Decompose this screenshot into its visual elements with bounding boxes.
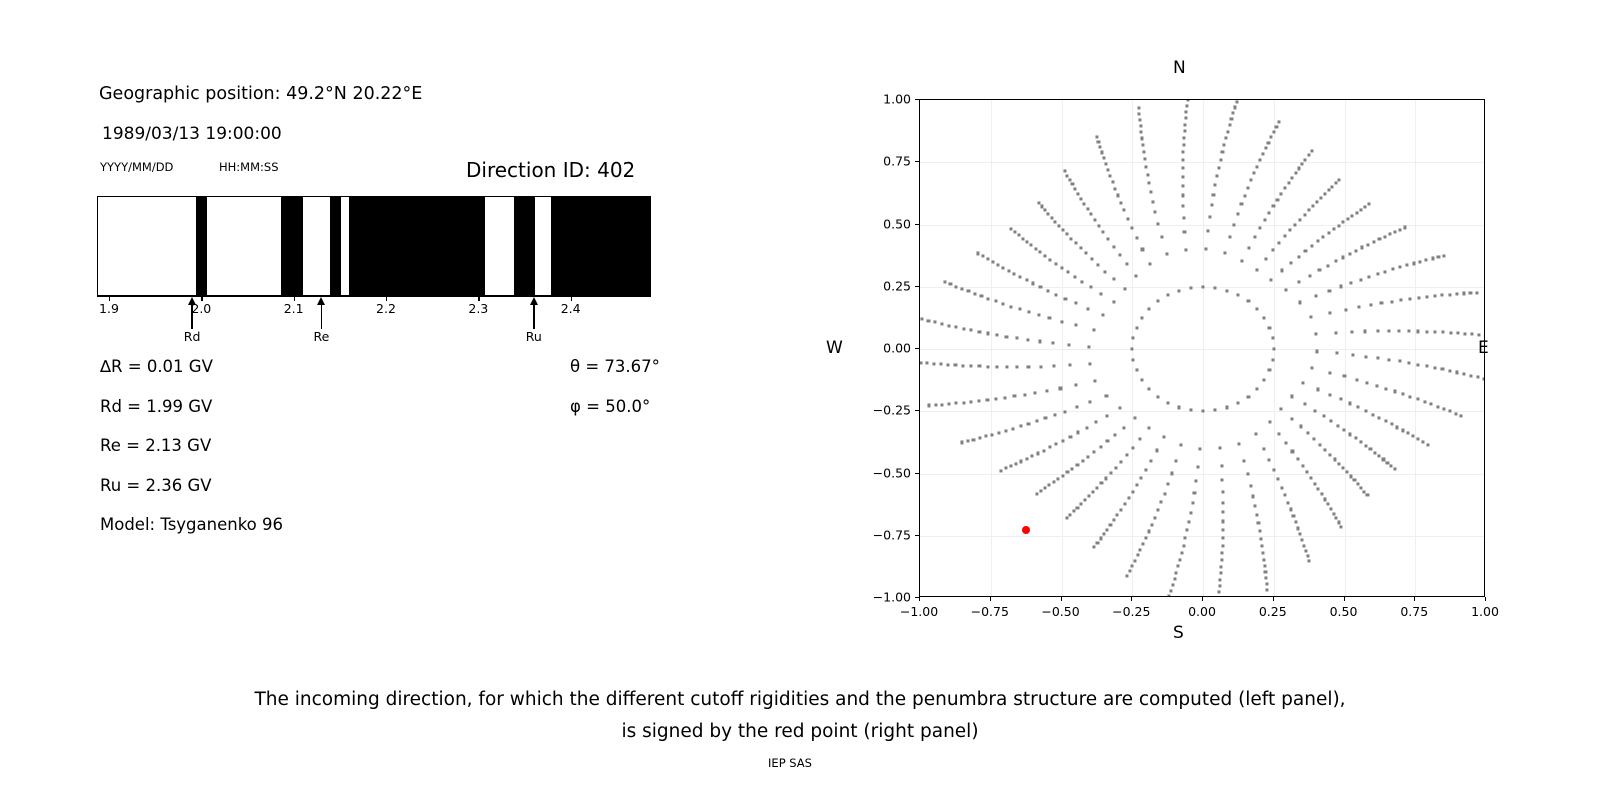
scatter-point — [1376, 330, 1379, 333]
scatter-point — [1039, 285, 1042, 288]
plot-ytick-label: −1.00 — [861, 590, 911, 605]
scatter-point — [1088, 401, 1091, 404]
left-panel: Geographic position: 49.2°N 20.22°E 1989… — [0, 0, 800, 660]
scatter-point — [1080, 503, 1083, 506]
scatter-point — [1294, 521, 1297, 524]
scatter-point — [1044, 254, 1047, 257]
scatter-point — [1291, 450, 1294, 453]
scatter-point — [970, 329, 973, 332]
scatter-point — [1476, 291, 1479, 294]
scatter-point — [932, 362, 935, 365]
scatter-point — [1356, 406, 1359, 409]
scatter-point — [1173, 577, 1176, 580]
scatter-point — [977, 252, 980, 255]
scatter-point — [1095, 135, 1098, 138]
scatter-point — [1139, 124, 1142, 127]
scatter-point — [1154, 210, 1157, 213]
scatter-point — [1329, 507, 1332, 510]
scatter-point — [1111, 180, 1114, 183]
scatter-point — [1363, 205, 1366, 208]
plot-ytick — [915, 410, 919, 411]
scatter-point — [1074, 324, 1077, 327]
scatter-point — [1065, 233, 1068, 236]
scatter-point — [1074, 384, 1077, 387]
scatter-point — [972, 438, 975, 441]
scatter-point — [1320, 493, 1323, 496]
scatter-point — [1097, 224, 1100, 227]
scatter-point — [1463, 372, 1466, 375]
scatter-point — [1237, 401, 1240, 404]
scatter-point — [1403, 226, 1406, 229]
plot-xtick-label: −0.75 — [971, 604, 1009, 619]
scatter-point — [1206, 230, 1209, 233]
plot-xtick-label: 0.75 — [1400, 604, 1428, 619]
scatter-point — [1221, 478, 1224, 481]
penumbra-axis-line — [97, 296, 651, 297]
plot-gridline-vertical — [1415, 100, 1416, 596]
scatter-point — [978, 365, 981, 368]
scatter-point — [1119, 406, 1122, 409]
scatter-point — [1018, 308, 1021, 311]
scatter-point — [1401, 393, 1404, 396]
scatter-point — [1243, 194, 1246, 197]
scatter-point — [1389, 233, 1392, 236]
scatter-point — [1255, 269, 1258, 272]
scatter-point — [1079, 247, 1082, 250]
scatter-point — [1143, 158, 1146, 161]
scatter-point — [1471, 333, 1474, 336]
scatter-point — [1254, 504, 1257, 507]
scatter-point — [1027, 422, 1030, 425]
plot-ytick-label: 1.00 — [861, 92, 911, 107]
scatter-point — [1388, 358, 1391, 361]
scatter-point — [1077, 431, 1080, 434]
scatter-point — [1217, 596, 1220, 597]
scatter-point — [1109, 523, 1112, 526]
caption-line-2: is signed by the red point (right panel) — [0, 716, 1600, 748]
scatter-point — [1360, 486, 1363, 489]
scatter-point — [1369, 303, 1372, 306]
direction-id-text: Direction ID: 402 — [466, 158, 635, 182]
scatter-point — [1386, 461, 1389, 464]
scatter-point — [1052, 481, 1055, 484]
scatter-point — [1135, 236, 1138, 239]
scatter-point — [1361, 246, 1364, 249]
scatter-point — [1089, 286, 1092, 289]
scatter-point — [1184, 537, 1187, 540]
scatter-point — [1166, 294, 1169, 297]
scatter-point — [1060, 266, 1063, 269]
scatter-point — [1326, 503, 1329, 506]
scatter-point — [1042, 449, 1045, 452]
scatter-point — [1348, 402, 1351, 405]
scatter-point — [927, 404, 930, 407]
angle-text: φ = 50.0° — [570, 397, 650, 416]
scatter-point — [1441, 294, 1444, 297]
plot-ytick-label: 0.50 — [861, 216, 911, 231]
scatter-point — [1309, 274, 1312, 277]
scatter-point — [1106, 168, 1109, 171]
scatter-point — [1081, 280, 1084, 283]
scatter-point — [1346, 217, 1349, 220]
compass-label-north: N — [1173, 58, 1186, 78]
scatter-point — [949, 283, 952, 286]
scatter-point — [1306, 432, 1309, 435]
scatter-point — [1175, 571, 1178, 574]
plot-xtick — [1273, 597, 1274, 601]
scatter-point — [1187, 520, 1190, 523]
penumbra-axis-tick-label: 2.2 — [376, 301, 396, 316]
scatter-point — [1448, 369, 1451, 372]
scatter-point — [1268, 326, 1271, 329]
scatter-point — [1099, 146, 1102, 149]
scatter-point — [1035, 492, 1038, 495]
scatter-point — [1066, 471, 1069, 474]
parameter-text: Rd = 1.99 GV — [100, 397, 212, 416]
plot-gridline-horizontal — [920, 474, 1484, 475]
scatter-point — [1336, 424, 1339, 427]
plot-ytick-label: −0.25 — [861, 403, 911, 418]
scatter-point — [1027, 311, 1030, 314]
scatter-point — [994, 300, 997, 303]
penumbra-structure-chart — [97, 196, 651, 296]
scatter-point — [1307, 154, 1310, 157]
scatter-point — [1037, 201, 1040, 204]
scatter-point — [1047, 212, 1050, 215]
scatter-point — [1393, 390, 1396, 393]
scatter-point — [1456, 371, 1459, 374]
scatter-point — [1318, 269, 1321, 272]
scatter-point — [955, 285, 958, 288]
scatter-point — [1272, 249, 1275, 252]
scatter-point — [1477, 333, 1480, 336]
scatter-point — [1268, 211, 1271, 214]
scatter-point — [1099, 445, 1102, 448]
plot-gridline-vertical — [1203, 100, 1204, 596]
scatter-point — [1407, 361, 1410, 364]
scatter-point — [1138, 112, 1141, 115]
scatter-point — [1114, 187, 1117, 190]
scatter-point — [1139, 437, 1142, 440]
scatter-point — [1077, 192, 1080, 195]
scatter-point — [1331, 185, 1334, 188]
scatter-point — [1304, 158, 1307, 161]
plot-xtick — [1485, 597, 1486, 601]
scatter-point — [1125, 575, 1128, 578]
scatter-point — [1104, 270, 1107, 273]
scatter-point — [1178, 558, 1181, 561]
scatter-point — [995, 334, 998, 337]
scatter-point — [1140, 137, 1143, 140]
scatter-point — [1304, 249, 1307, 252]
scatter-point — [1433, 330, 1436, 333]
scatter-point — [1102, 231, 1105, 234]
compass-label-west: W — [826, 338, 843, 358]
compass-label-south: S — [1173, 623, 1184, 643]
scatter-point — [1412, 262, 1415, 265]
scatter-point — [1036, 452, 1039, 455]
scatter-point — [1272, 130, 1275, 133]
scatter-point — [1258, 530, 1261, 533]
scatter-point — [1254, 432, 1257, 435]
scatter-point — [1087, 345, 1090, 348]
scatter-point — [1181, 194, 1184, 197]
scatter-point — [1469, 291, 1472, 294]
scatter-point — [1061, 228, 1064, 231]
scatter-point — [1039, 251, 1042, 254]
scatter-point — [1138, 118, 1141, 121]
scatter-point — [1283, 187, 1286, 190]
scatter-point — [1297, 255, 1300, 258]
plot-xtick-label: 0.25 — [1259, 604, 1287, 619]
scatter-point — [1367, 203, 1370, 206]
scatter-point — [1298, 301, 1301, 304]
scatter-point — [1460, 414, 1463, 417]
scatter-point — [1343, 375, 1346, 378]
scatter-point — [1023, 393, 1026, 396]
scatter-point — [1297, 167, 1300, 170]
scatter-point — [1219, 572, 1222, 575]
scatter-point — [1004, 429, 1007, 432]
plot-ytick-label: −0.75 — [861, 527, 911, 542]
scatter-point — [1359, 278, 1362, 281]
scatter-point — [1222, 520, 1225, 523]
scatter-point — [1267, 141, 1270, 144]
scatter-point — [1086, 307, 1089, 310]
scatter-point — [1112, 300, 1115, 303]
scatter-point — [1364, 330, 1367, 333]
scatter-point — [1448, 410, 1451, 413]
scatter-point — [1301, 464, 1304, 467]
scatter-point — [1223, 251, 1226, 254]
scatter-point — [1046, 389, 1049, 392]
scatter-point — [1315, 350, 1318, 353]
scatter-point — [1090, 213, 1093, 216]
scatter-point — [1182, 151, 1185, 154]
scatter-point — [1049, 258, 1052, 261]
scatter-point — [1399, 266, 1402, 269]
scatter-point — [1469, 374, 1472, 377]
scatter-point — [1097, 140, 1100, 143]
scatter-point — [954, 364, 957, 367]
scatter-point — [1336, 352, 1339, 355]
right-panel: −1.00−0.75−0.50−0.250.000.250.500.751.00… — [800, 0, 1600, 660]
scatter-point — [1326, 264, 1329, 267]
scatter-point — [1313, 482, 1316, 485]
scatter-point — [1132, 337, 1135, 340]
scatter-point — [1040, 205, 1043, 208]
plot-ytick — [915, 286, 919, 287]
scatter-point — [1147, 530, 1150, 533]
scatter-point — [1189, 409, 1192, 412]
scatter-point — [1014, 462, 1017, 465]
caption-line-1: The incoming direction, for which the di… — [0, 684, 1600, 716]
scatter-point — [1412, 435, 1415, 438]
scatter-point — [1322, 236, 1325, 239]
scatter-point — [1324, 448, 1327, 451]
scatter-point — [1099, 537, 1102, 540]
scatter-point — [1177, 406, 1180, 409]
scatter-point — [987, 365, 990, 368]
scatter-point — [1038, 340, 1041, 343]
scatter-point — [1087, 495, 1090, 498]
scatter-point — [946, 363, 949, 366]
scatter-point — [1037, 314, 1040, 317]
scatter-point — [1310, 150, 1313, 153]
scatter-point — [999, 469, 1002, 472]
scatter-point — [1168, 595, 1171, 597]
scatter-point — [962, 327, 965, 330]
scatter-point — [1342, 221, 1345, 224]
scatter-point — [1243, 459, 1246, 462]
scatter-point — [1289, 261, 1292, 264]
scatter-point — [961, 287, 964, 290]
scatter-point — [1299, 533, 1302, 536]
scatter-point — [1214, 409, 1217, 412]
scatter-point — [1355, 211, 1358, 214]
scatter-point — [1354, 437, 1357, 440]
scatter-point — [1044, 487, 1047, 490]
scatter-point — [1025, 240, 1028, 243]
scatter-point — [1160, 236, 1163, 239]
scatter-point — [1401, 429, 1404, 432]
scatter-point — [1131, 490, 1134, 493]
scatter-point — [1122, 426, 1125, 429]
plot-gridline-vertical — [1062, 100, 1063, 596]
scatter-point — [1268, 420, 1271, 423]
selected-direction-point — [1022, 526, 1030, 534]
scatter-point — [1431, 257, 1434, 260]
scatter-point — [1456, 332, 1459, 335]
scatter-point — [996, 365, 999, 368]
scatter-point — [1264, 258, 1267, 261]
scatter-point — [1053, 414, 1056, 417]
scatter-point — [1106, 440, 1109, 443]
scatter-point — [1131, 446, 1134, 449]
scatter-point — [1275, 125, 1278, 128]
scatter-point — [1025, 457, 1028, 460]
scatter-point — [1218, 590, 1221, 593]
scatter-point — [1376, 273, 1379, 276]
scatter-point — [1391, 268, 1394, 271]
scatter-point — [1100, 151, 1103, 154]
scatter-point — [1060, 320, 1063, 323]
scatter-point — [1093, 450, 1096, 453]
scatter-point — [1315, 294, 1318, 297]
scatter-point — [1272, 347, 1275, 350]
scatter-point — [1249, 484, 1252, 487]
scatter-point — [1087, 455, 1090, 458]
scatter-point — [919, 361, 922, 364]
scatter-point — [1353, 479, 1356, 482]
scatter-point — [1047, 289, 1050, 292]
scatter-point — [970, 364, 973, 367]
scatter-point — [1054, 220, 1057, 223]
scatter-point — [1044, 417, 1047, 420]
scatter-point — [1149, 190, 1152, 193]
scatter-point — [1394, 467, 1397, 470]
scatter-point — [1330, 420, 1333, 423]
penumbra-axis-tick-label: 2.1 — [284, 301, 304, 316]
scatter-point — [1182, 544, 1185, 547]
scatter-point — [1333, 458, 1336, 461]
scatter-point — [1280, 192, 1283, 195]
scatter-point — [1002, 302, 1005, 305]
scatter-point — [1342, 467, 1345, 470]
scatter-point — [1071, 183, 1074, 186]
scatter-point — [940, 322, 943, 325]
scatter-point — [948, 402, 951, 405]
scatter-point — [1319, 443, 1322, 446]
scatter-point — [1116, 513, 1119, 516]
scatter-point — [1109, 174, 1112, 177]
scatter-point — [1247, 300, 1250, 303]
penumbra-forbidden-band — [196, 196, 207, 296]
scatter-point — [1137, 106, 1140, 109]
scatter-point — [1441, 368, 1444, 371]
asymptotic-direction-plot — [919, 99, 1485, 597]
scatter-point — [1026, 338, 1029, 341]
scatter-point — [1156, 395, 1159, 398]
scatter-point — [1015, 337, 1018, 340]
scatter-point — [1142, 542, 1145, 545]
scatter-point — [1308, 560, 1311, 563]
scatter-point — [1076, 506, 1079, 509]
scatter-point — [1101, 313, 1104, 316]
scatter-point — [1383, 235, 1386, 238]
scatter-point — [1132, 358, 1135, 361]
scatter-point — [1309, 316, 1312, 319]
scatter-point — [1059, 387, 1062, 390]
plot-ytick — [915, 473, 919, 474]
scatter-point — [1278, 432, 1281, 435]
scatter-point — [1390, 464, 1393, 467]
scatter-point — [1189, 286, 1192, 289]
plot-ytick — [915, 161, 919, 162]
scatter-point — [967, 290, 970, 293]
scatter-point — [1223, 144, 1226, 147]
scatter-point — [1149, 263, 1152, 266]
scatter-point — [1165, 253, 1168, 256]
scatter-point — [1382, 458, 1385, 461]
scatter-point — [1220, 464, 1223, 467]
scatter-point — [1484, 334, 1485, 337]
plot-ytick — [915, 535, 919, 536]
scatter-point — [1464, 332, 1467, 335]
scatter-point — [1270, 278, 1273, 281]
scatter-point — [1298, 281, 1301, 284]
scatter-point — [1259, 159, 1262, 162]
scatter-point — [1184, 117, 1187, 120]
scatter-point — [1334, 182, 1337, 185]
scatter-point — [1271, 358, 1274, 361]
scatter-point — [1002, 266, 1005, 269]
scatter-point — [1096, 541, 1099, 544]
scatter-point — [1335, 517, 1338, 520]
scatter-point — [981, 255, 984, 258]
cutoff-marker-arrowhead-ru — [530, 297, 538, 305]
scatter-point — [1083, 499, 1086, 502]
scatter-point — [1373, 451, 1376, 454]
scatter-point — [1013, 272, 1016, 275]
plot-ytick — [915, 224, 919, 225]
plot-gridline-vertical — [991, 100, 992, 596]
scatter-point — [1177, 289, 1180, 292]
scatter-point — [1130, 226, 1133, 229]
scatter-point — [978, 399, 981, 402]
plot-gridline-horizontal — [920, 162, 1484, 163]
scatter-point — [1017, 234, 1020, 237]
